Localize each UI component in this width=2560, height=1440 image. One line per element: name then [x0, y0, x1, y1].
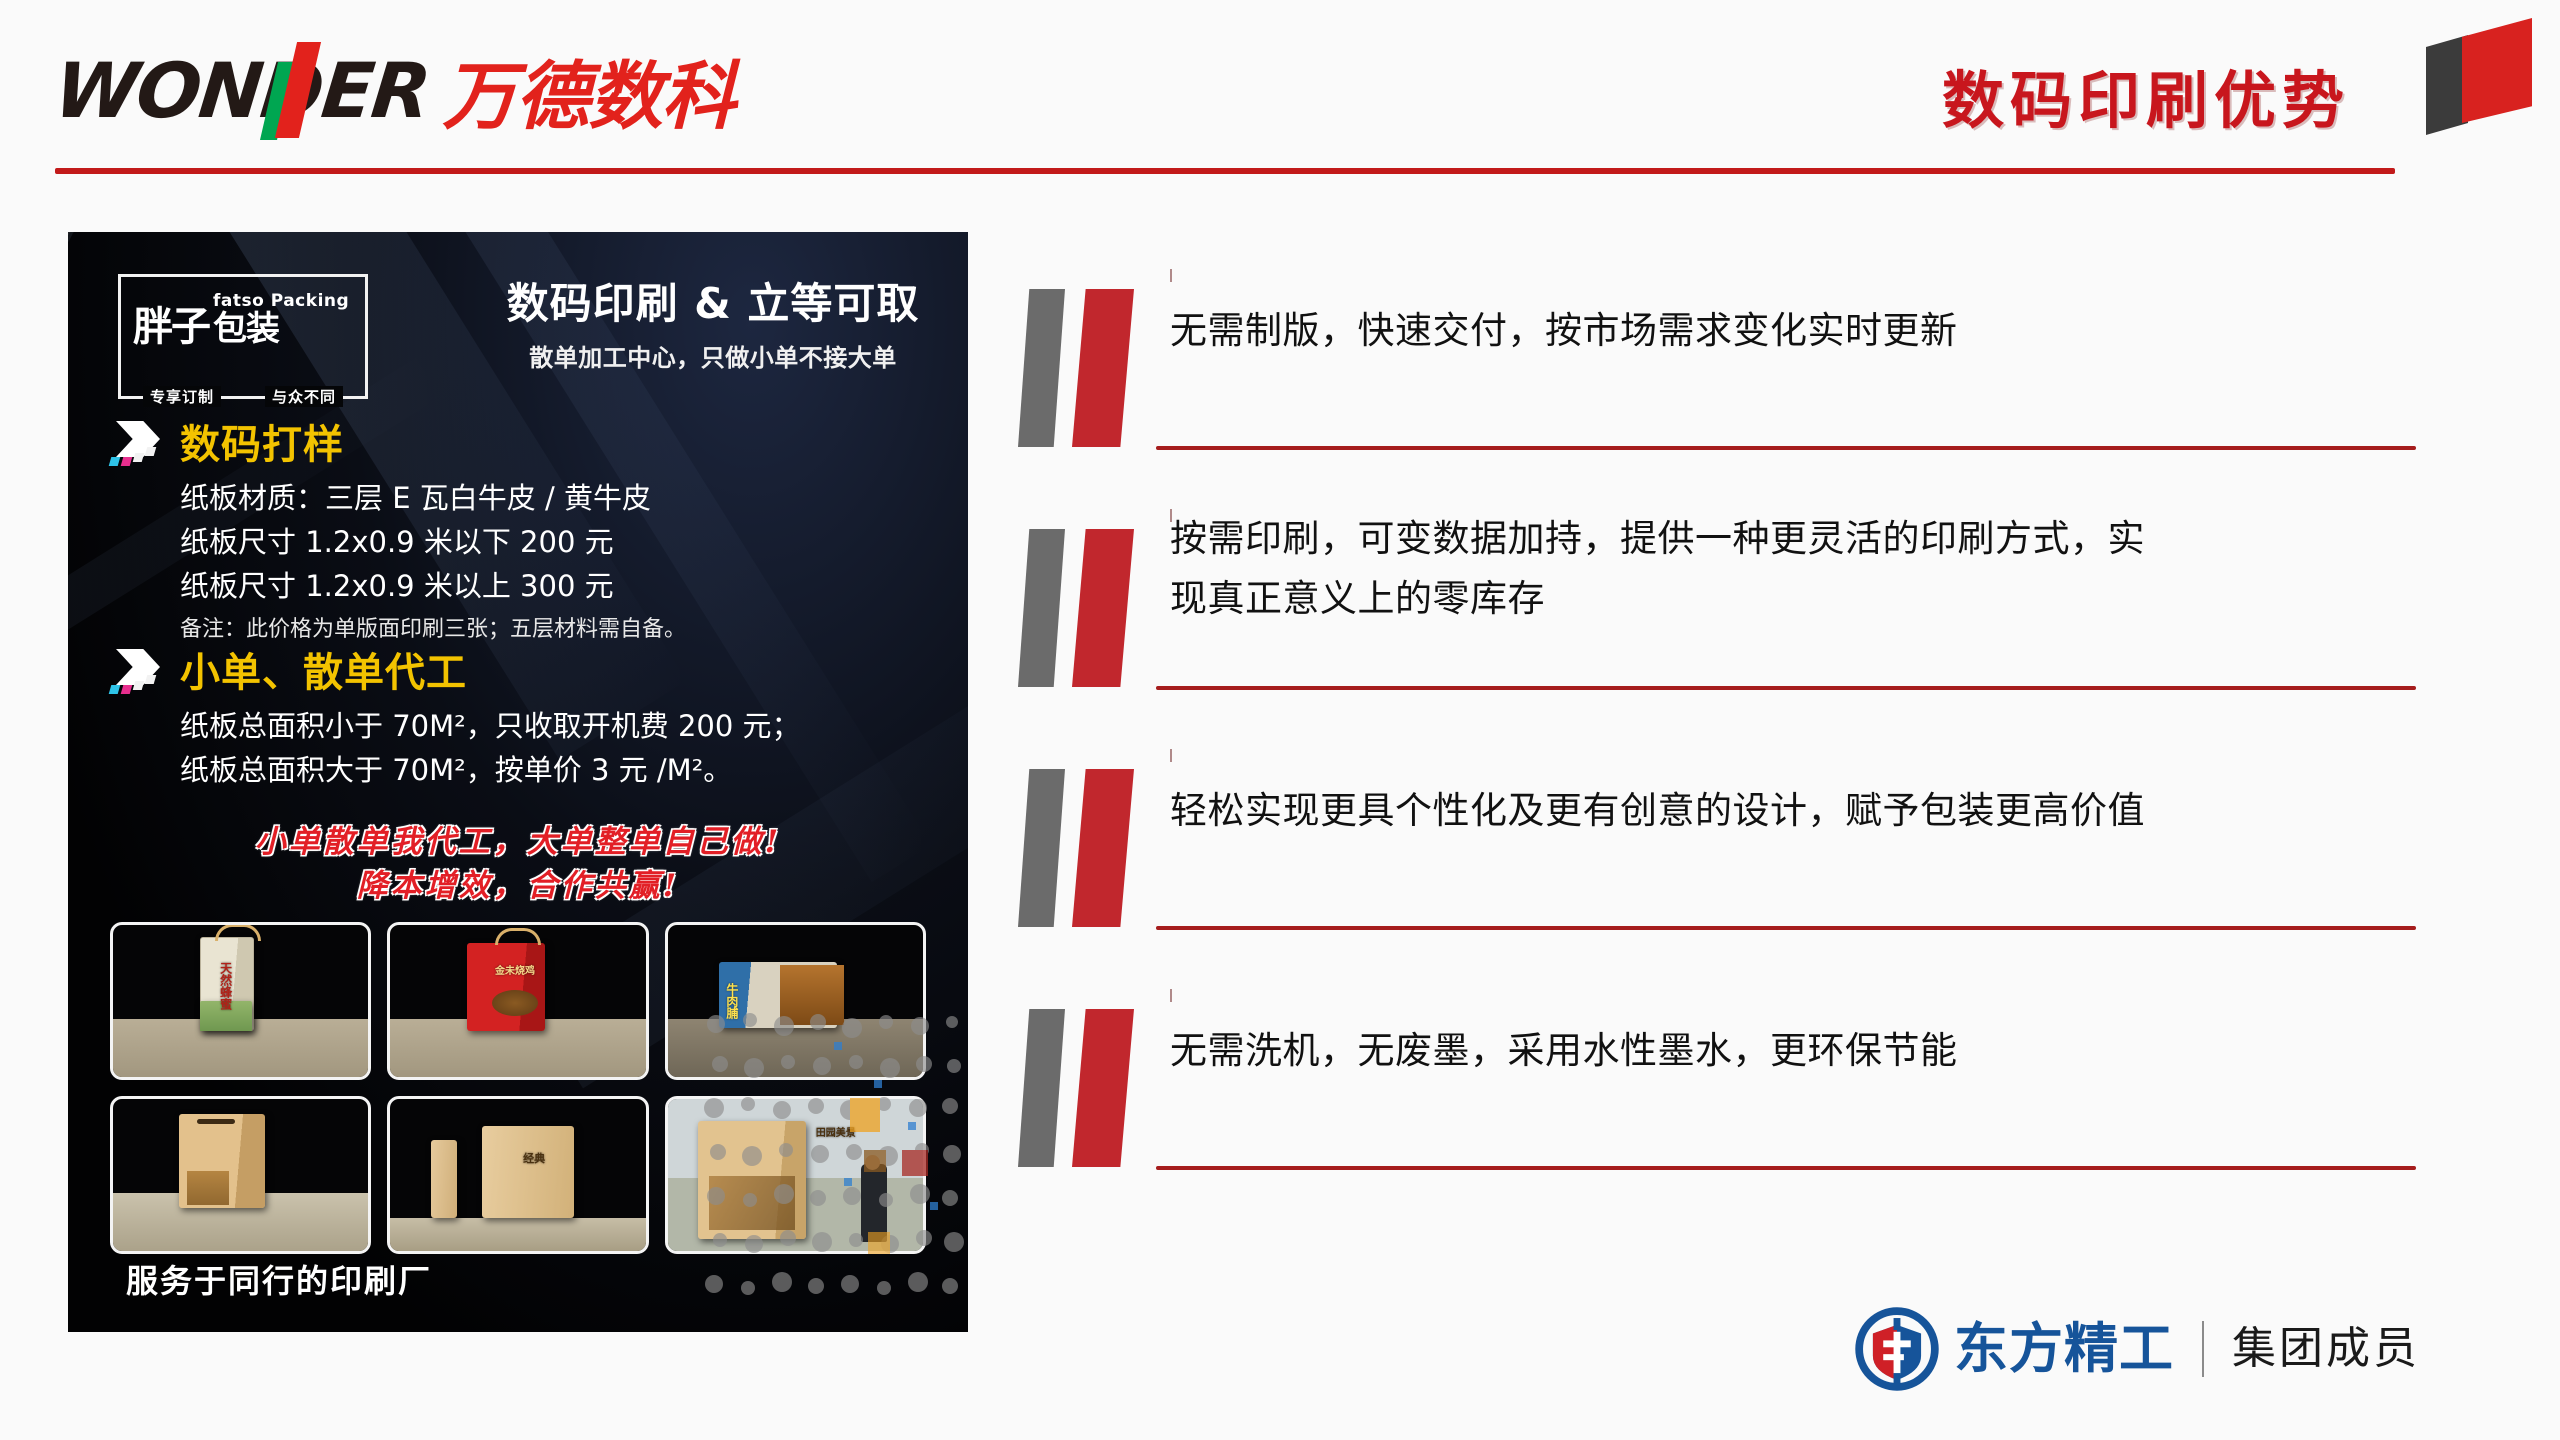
promo-poster-image: 胖子 fatso Packing 包装 专享订制 与众不同 数码印刷 & 立等可… — [68, 232, 968, 1332]
photo: 经典 — [390, 1099, 645, 1251]
person-silhouette — [861, 1164, 887, 1242]
photo — [113, 1099, 368, 1251]
product-photo-kraft-gift-box — [110, 1096, 371, 1254]
footer-divider — [2202, 1321, 2204, 1377]
product-photo-grid: 天然蜂蜜 金未烧鸡 牛肉脯 — [110, 922, 926, 1254]
chevron-arrow-icon — [108, 645, 174, 693]
bullet-tick-mark — [1170, 749, 1172, 762]
fatso-logo-taglines: 专享订制 与众不同 — [121, 386, 365, 407]
section-title: 数码打样 — [180, 412, 344, 470]
wonder-wordmark: WONDER — [55, 48, 429, 134]
advantage-item-print-on-demand: 按需印刷，可变数据加持，提供一种更灵活的印刷方式，实 现真正意义上的零库存 — [1010, 495, 2490, 735]
box-label: 牛肉脯 — [724, 983, 741, 1019]
box-shape-small — [431, 1140, 457, 1218]
marker-red-bar — [1072, 289, 1134, 447]
arrow-dot-white-1 — [133, 681, 145, 690]
section-body: 纸板总面积小于 70M²，只收取开机费 200 元； 纸板总面积大于 70M²，… — [180, 704, 928, 792]
arrow-dot-cyan — [109, 685, 121, 694]
photo: 牛肉脯 — [668, 925, 923, 1077]
fatso-tag-left: 专享订制 — [143, 386, 221, 407]
poster-section-small-order-oem: 小单、散单代工 纸板总面积小于 70M²，只收取开机费 200 元； 纸板总面积… — [108, 640, 928, 792]
section-header: 小单、散单代工 — [108, 640, 928, 698]
wonder-chinese-name: 万德数科 — [443, 60, 735, 134]
advantages-list: 无需制版，快速交付，按市场需求变化实时更新 按需印刷，可变数据加持，提供一种更灵… — [1010, 255, 2490, 1215]
advantage-item-no-plate-making: 无需制版，快速交付，按市场需求变化实时更新 — [1010, 255, 2490, 495]
advantage-text: 无需洗机，无废墨，采用水性墨水，更环保节能 — [1170, 1021, 2440, 1081]
poster-slogan: 小单散单我代工，大单整单自己做! 降本增效，合作共赢! — [68, 820, 968, 908]
advantage-line: 现真正意义上的零库存 — [1170, 569, 2440, 629]
header-divider — [55, 168, 2395, 174]
photo: 金未烧鸡 — [390, 925, 645, 1077]
poster-subheadline: 散单加工中心，只做小单不接大单 — [498, 338, 928, 373]
poster-slogan-line2: 降本增效，合作共赢! — [68, 864, 968, 908]
section-header: 数码打样 — [108, 412, 928, 470]
section-line: 纸板总面积大于 70M²，按单价 3 元 /M²。 — [180, 748, 928, 792]
box-label: 田园美景 — [816, 1124, 856, 1139]
arrow-dot-white-1 — [133, 453, 145, 462]
fatso-logo-right: fatso Packing 包装 — [213, 293, 349, 346]
photo: 田园美景 — [668, 1099, 923, 1251]
product-photo-red-chicken-gift-box: 金未烧鸡 — [387, 922, 648, 1080]
product-photo-classic-kraft-boxes: 经典 — [387, 1096, 648, 1254]
bullet-tick-mark — [1170, 269, 1172, 282]
advantage-item-personalized-design: 轻松实现更具个性化及更有创意的设计，赋予包装更高价值 — [1010, 735, 2490, 975]
wonder-latin-text: WONDER — [51, 53, 433, 129]
section-title: 小单、散单代工 — [180, 640, 467, 698]
poster-slogan-line1: 小单散单我代工，大单整单自己做! — [68, 820, 968, 864]
photo-floor — [390, 1218, 645, 1251]
advantage-line: 按需印刷，可变数据加持，提供一种更灵活的印刷方式，实 — [1170, 509, 2440, 569]
section-body: 纸板材质：三层 E 瓦白牛皮 / 黄牛皮 纸板尺寸 1.2x0.9 米以下 20… — [180, 476, 928, 646]
box-label: 经典 — [523, 1150, 545, 1166]
marker-red-bar — [1072, 529, 1134, 687]
advantage-text: 轻松实现更具个性化及更有创意的设计，赋予包装更高价值 — [1170, 781, 2440, 841]
fatso-english-text: fatso Packing — [213, 293, 349, 310]
arrow-dot-white-2 — [145, 675, 157, 684]
poster-headline: 数码印刷 & 立等可取 — [498, 280, 928, 328]
advantage-line: 无需制版，快速交付，按市场需求变化实时更新 — [1170, 301, 2440, 361]
arrow-dot-cyan — [109, 457, 121, 466]
poster-footer-text: 服务于同行的印刷厂 — [126, 1256, 432, 1302]
box-handle — [495, 928, 541, 945]
arrow-dot-magenta — [121, 457, 133, 466]
ribbon-dark-panel — [2426, 35, 2468, 135]
box-label: 金未烧鸡 — [495, 962, 535, 977]
fatso-logo-top: 胖子 fatso Packing 包装 — [121, 293, 365, 346]
chevron-arrow-icon — [108, 417, 174, 465]
advantage-line: 无需洗机，无废墨，采用水性墨水，更环保节能 — [1170, 1021, 2440, 1081]
fatso-cn-part1: 胖子 — [133, 308, 209, 346]
marker-gray-bar — [1018, 1009, 1065, 1167]
product-photo-beef-jerky-carton: 牛肉脯 — [665, 922, 926, 1080]
arrow-dot-magenta — [121, 685, 133, 694]
photo: 天然蜂蜜 — [113, 925, 368, 1077]
product-photo-honey-gift-box: 天然蜂蜜 — [110, 922, 371, 1080]
box-handle-slot — [197, 1119, 235, 1124]
corner-ribbon-icon — [2420, 0, 2540, 135]
box-shape — [467, 943, 545, 1031]
arrow-dot-white-2 — [145, 447, 157, 456]
page-title: 数码印刷优势 — [1942, 50, 2350, 140]
advantage-underline — [1156, 686, 2416, 690]
marker-red-bar — [1072, 769, 1134, 927]
section-line: 纸板材质：三层 E 瓦白牛皮 / 黄牛皮 — [180, 476, 928, 520]
box-shape-large — [482, 1126, 574, 1218]
section-line: 纸板尺寸 1.2x0.9 米以下 200 元 — [180, 520, 928, 564]
fatso-tag-right: 与众不同 — [265, 386, 343, 407]
box-artwork — [709, 1176, 795, 1230]
group-member-footer-logo: 东方精工 集团成员 — [1854, 1306, 2420, 1392]
box-label: 天然蜂蜜 — [218, 962, 235, 1010]
person-head — [865, 1155, 880, 1170]
fatso-packing-logo: 胖子 fatso Packing 包装 专享订制 与众不同 — [118, 274, 368, 399]
bullet-marker-icon — [1010, 1009, 1145, 1169]
box-artwork — [187, 1171, 229, 1205]
box-artwork — [780, 965, 844, 1025]
marker-gray-bar — [1018, 769, 1065, 927]
advantage-text: 按需印刷，可变数据加持，提供一种更灵活的印刷方式，实 现真正意义上的零库存 — [1170, 509, 2440, 629]
wonder-brand-logo: WONDER 万德数科 — [55, 48, 735, 134]
poster-headline-block: 数码印刷 & 立等可取 散单加工中心，只做小单不接大单 — [498, 280, 928, 373]
marker-red-bar — [1072, 1009, 1134, 1167]
bullet-marker-icon — [1010, 769, 1145, 929]
footer-member-label: 集团成员 — [2232, 1327, 2420, 1371]
advantage-underline — [1156, 446, 2416, 450]
dongfang-jingong-mark-icon — [1854, 1306, 1940, 1392]
section-line: 纸板总面积小于 70M²，只收取开机费 200 元； — [180, 704, 928, 748]
bullet-marker-icon — [1010, 289, 1145, 449]
advantage-item-eco-friendly: 无需洗机，无废墨，采用水性墨水，更环保节能 — [1010, 975, 2490, 1215]
advantage-underline — [1156, 1166, 2416, 1170]
poster-section-digital-proofing: 数码打样 纸板材质：三层 E 瓦白牛皮 / 黄牛皮 纸板尺寸 1.2x0.9 米… — [108, 412, 928, 646]
ribbon-red-panel — [2462, 18, 2532, 123]
fatso-cn-part2: 包装 — [213, 312, 349, 346]
slide-header: WONDER 万德数科 数码印刷优势 — [0, 0, 2560, 190]
section-line: 纸板尺寸 1.2x0.9 米以上 300 元 — [180, 564, 928, 608]
advantage-underline — [1156, 926, 2416, 930]
product-photo-large-kraft-carton-with-person: 田园美景 — [665, 1096, 926, 1254]
advantage-line: 轻松实现更具个性化及更有创意的设计，赋予包装更高价值 — [1170, 781, 2440, 841]
advantage-text: 无需制版，快速交付，按市场需求变化实时更新 — [1170, 301, 2440, 361]
bullet-tick-mark — [1170, 989, 1172, 1002]
box-handle — [215, 924, 261, 941]
footer-company-name: 东方精工 — [1954, 1322, 2174, 1376]
marker-gray-bar — [1018, 529, 1065, 687]
marker-gray-bar — [1018, 289, 1065, 447]
bullet-marker-icon — [1010, 529, 1145, 689]
